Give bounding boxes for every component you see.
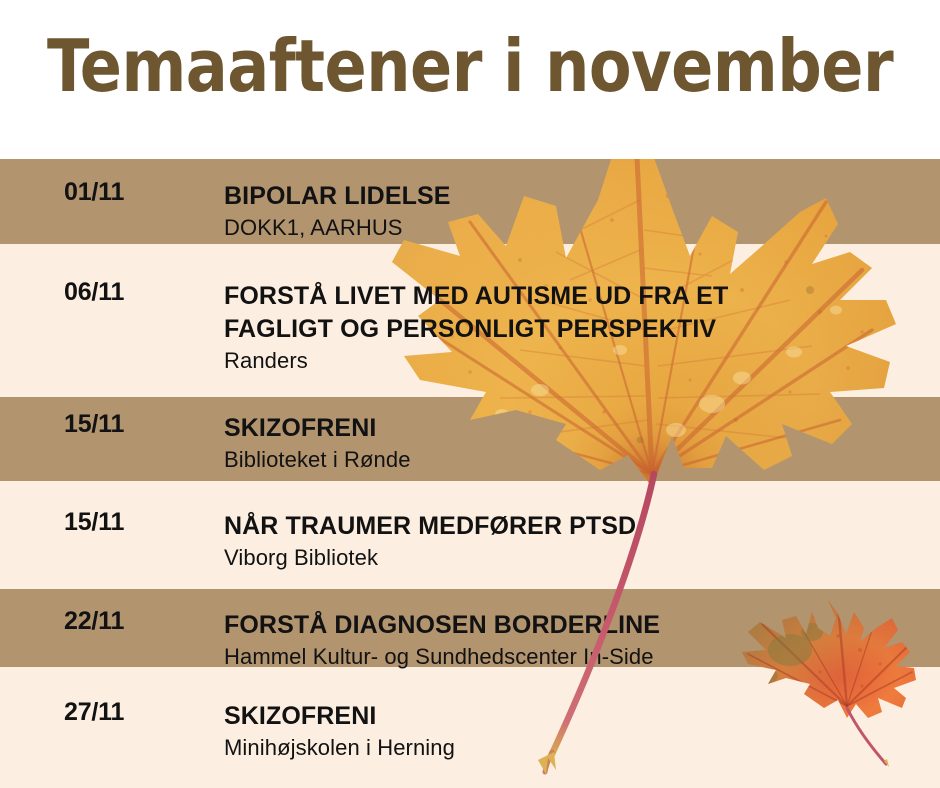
page-title: Temaaftener i november [47, 24, 893, 108]
schedule-row-band [0, 159, 940, 244]
poster-canvas: Temaaftener i november 01/11BIPOLAR LIDE… [0, 0, 940, 788]
schedule-row-band [0, 589, 940, 667]
schedule-row-band [0, 667, 940, 788]
schedule-row-band [0, 244, 940, 397]
title-bar: Temaaftener i november [0, 0, 940, 159]
schedule-row-band [0, 481, 940, 589]
schedule-row-band [0, 397, 940, 481]
